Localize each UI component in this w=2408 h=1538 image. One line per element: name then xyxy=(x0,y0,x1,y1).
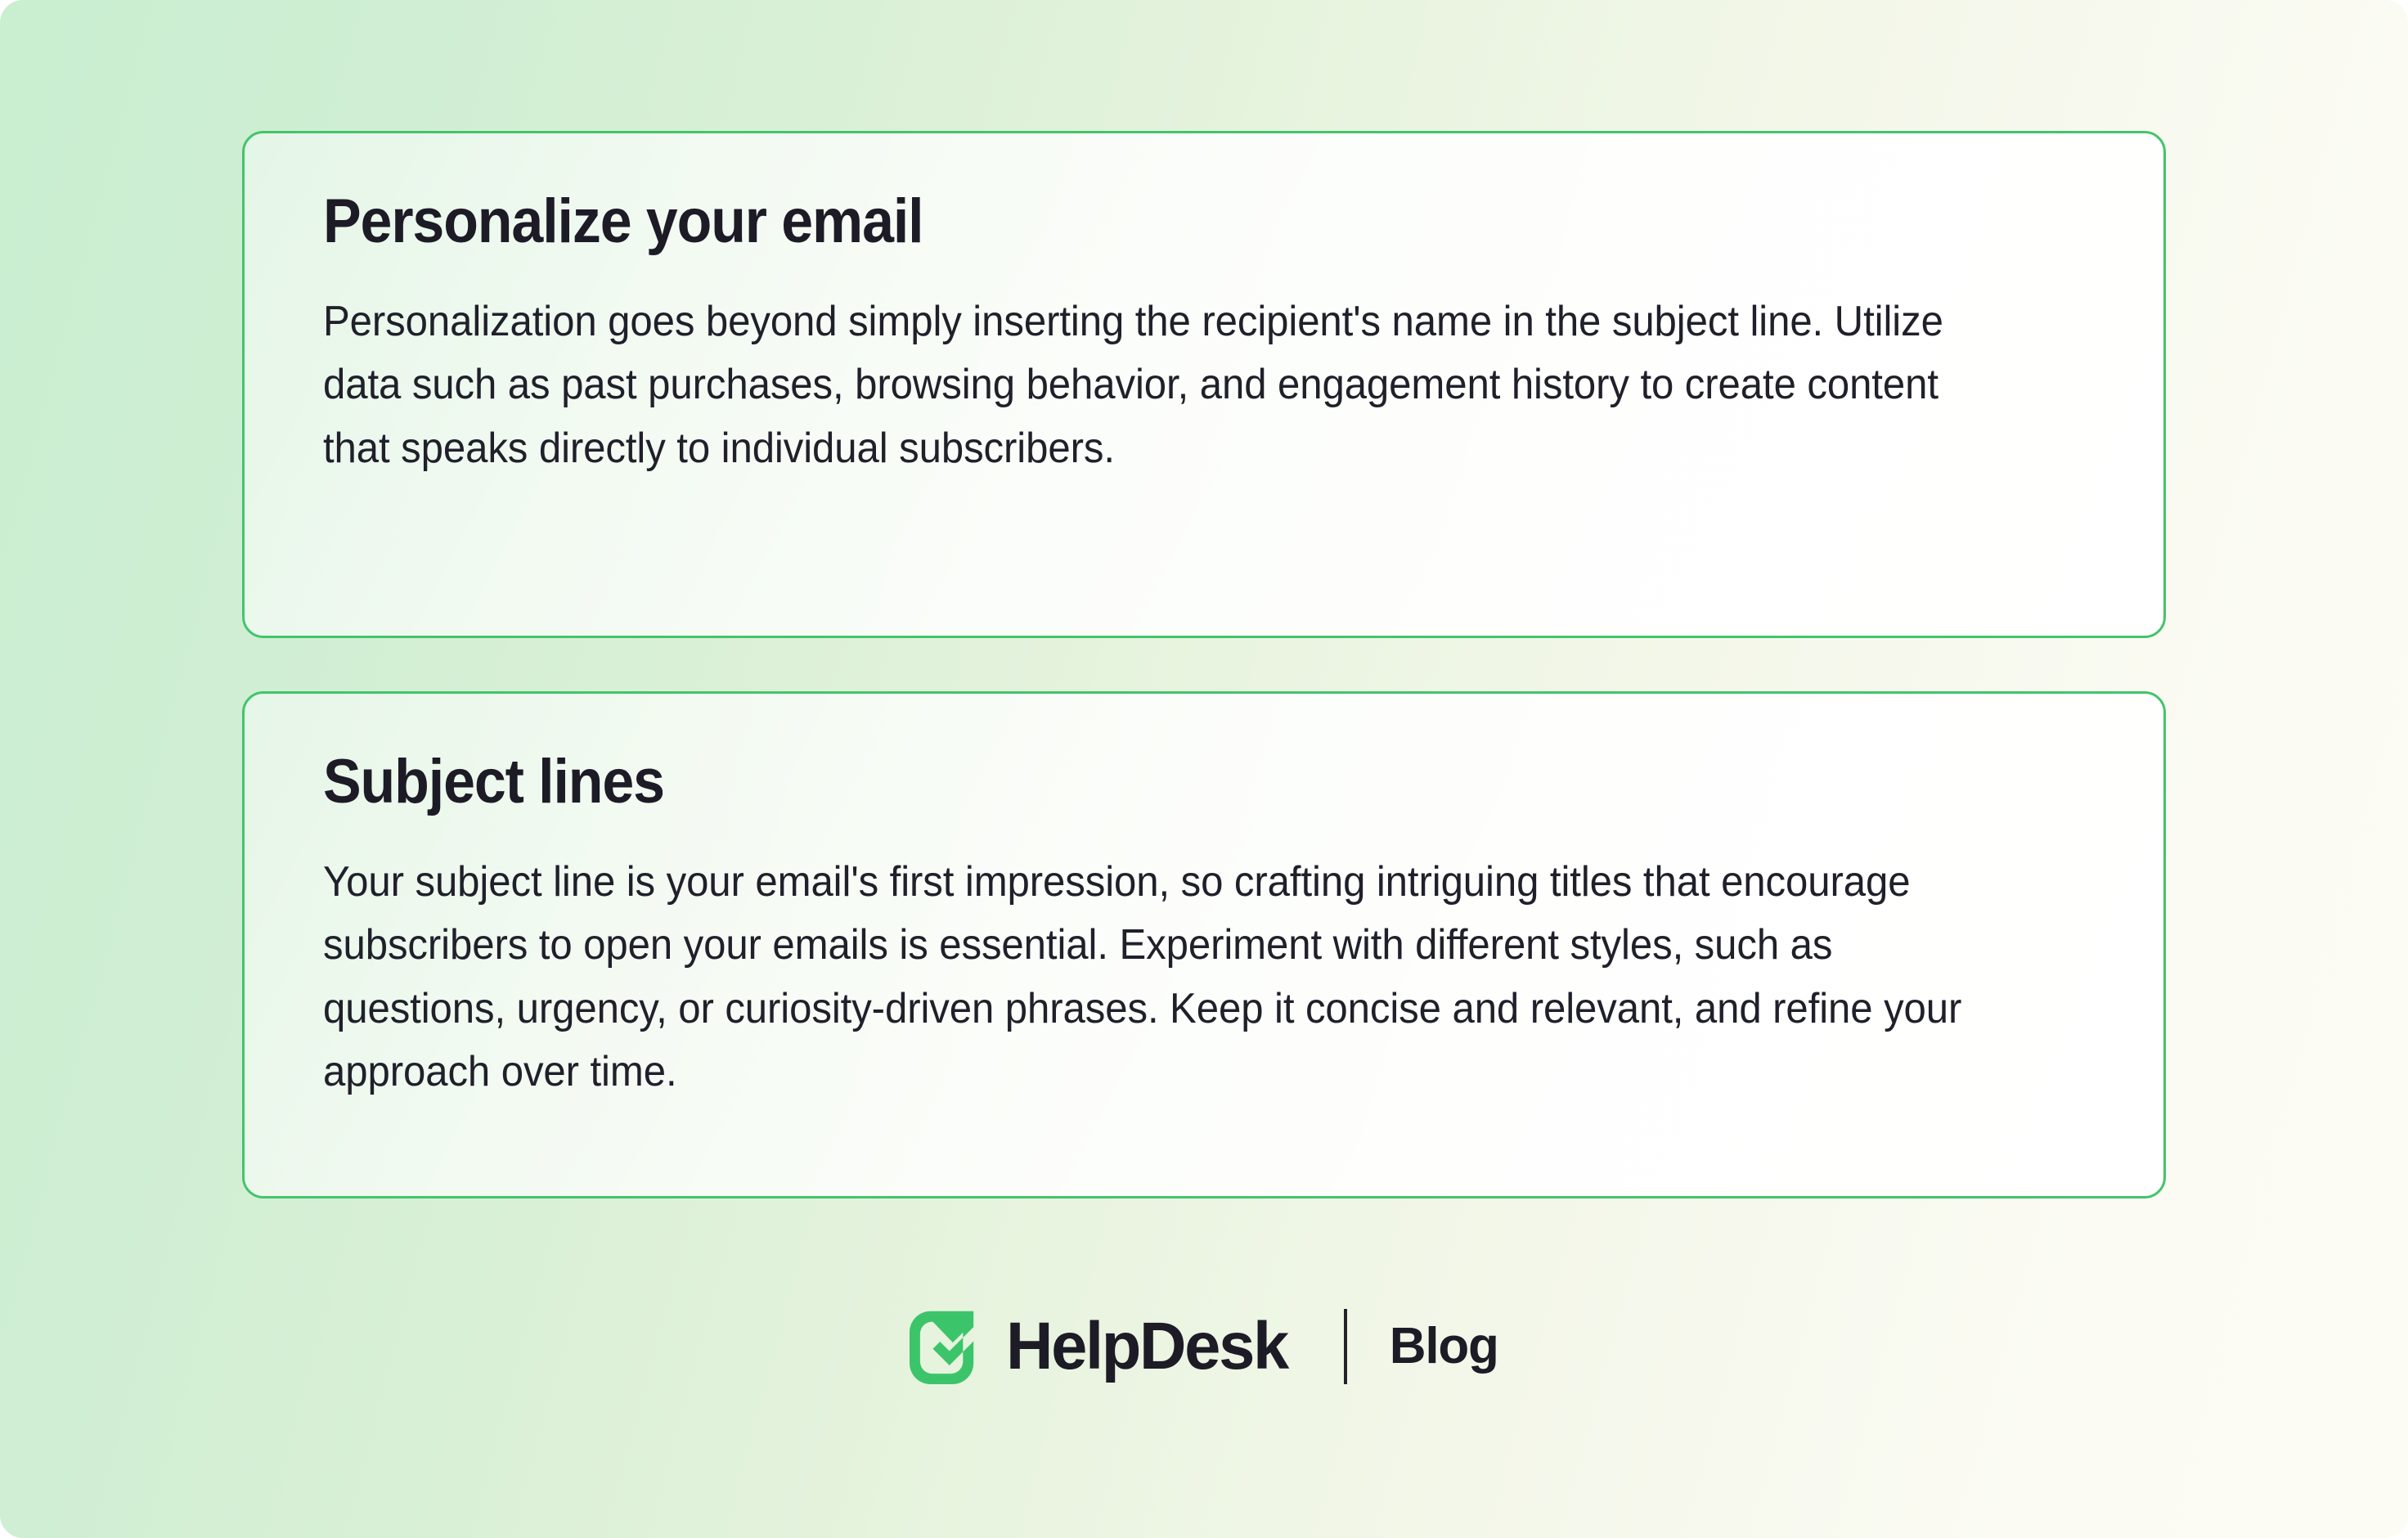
footer-brand-lockup: HelpDesk Blog xyxy=(0,1309,2408,1384)
card-title: Personalize your email xyxy=(323,189,1944,254)
helpdesk-checkmark-icon xyxy=(910,1309,985,1384)
footer-section-label[interactable]: Blog xyxy=(1390,1321,1498,1372)
card-title: Subject lines xyxy=(323,749,1944,815)
brand-name-text: HelpDesk xyxy=(1006,1313,1287,1380)
footer-divider xyxy=(1344,1309,1347,1384)
card-body-text: Personalization goes beyond simply inser… xyxy=(323,290,1988,480)
card-body-text: Your subject line is your email's first … xyxy=(323,851,1988,1104)
content-card-personalize-your-email: Personalize your email Personalization g… xyxy=(242,131,2166,638)
cards-container: Personalize your email Personalization g… xyxy=(242,131,2166,1198)
content-card-subject-lines: Subject lines Your subject line is your … xyxy=(242,691,2166,1198)
brand-logo[interactable]: HelpDesk xyxy=(910,1309,1296,1384)
page-root: Personalize your email Personalization g… xyxy=(0,0,2408,1538)
